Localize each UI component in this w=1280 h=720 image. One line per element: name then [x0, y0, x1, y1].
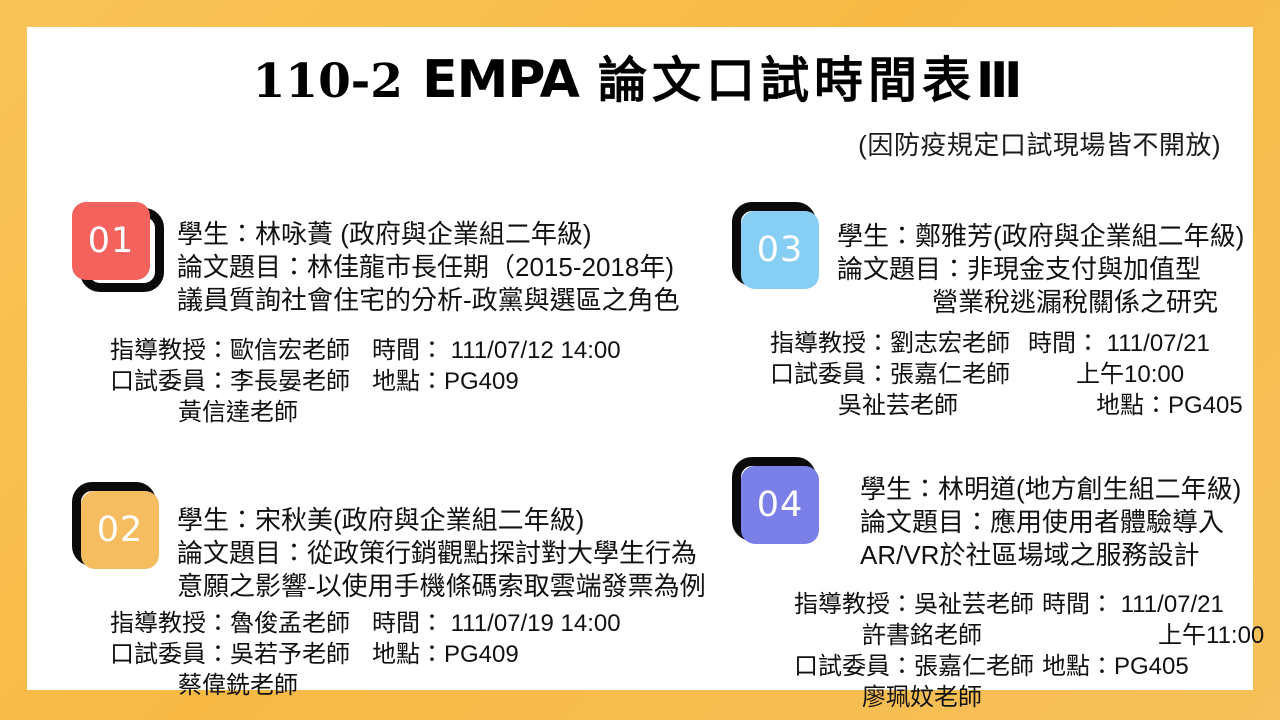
- title-main: 論文口試時間表Ⅲ: [598, 52, 1027, 109]
- committee-line-1: 口試委員：張嘉仁老師: [770, 359, 1028, 390]
- entry-detail-02: 指導教授：魯俊孟老師 時間： 111/07/19 14:00 口試委員：吳若予老…: [110, 608, 621, 701]
- thesis-line-2: 意願之影響-以使用手機條碼索取雲端發票為例: [177, 570, 706, 603]
- entry-detail-03: 指導教授：劉志宏老師 時間： 111/07/21 口試委員：張嘉仁老師 上午10…: [770, 328, 1243, 421]
- student-line: 學生：宋秋美(政府與企業組二年級): [177, 504, 706, 537]
- thesis-line-2: AR/VR於社區場域之服務設計: [860, 539, 1241, 572]
- thesis-line-2: 營業稅逃漏稅關係之研究: [837, 286, 1244, 319]
- subtitle-notice: (因防疫規定口試現場皆不開放): [858, 125, 1221, 162]
- advisor-line-2: 許書銘老師: [794, 620, 1110, 651]
- detail-row: 口試委員：張嘉仁老師 地點：PG405: [794, 651, 1264, 682]
- committee-line-1: 口試委員：李長晏老師: [110, 366, 372, 397]
- page-title: 110-2 EMPA 論文口試時間表Ⅲ: [27, 41, 1253, 112]
- place-line: 地點：PG409: [372, 639, 519, 670]
- schedule-entry-02: 02 學生：宋秋美(政府與企業組二年級) 論文題目：從政策行銷觀點探討對大學生行…: [72, 482, 742, 707]
- detail-row: 指導教授：歐信宏老師 時間： 111/07/12 14:00: [110, 335, 621, 366]
- time-line-1: 時間： 111/07/21: [1028, 328, 1210, 359]
- advisor-line: 指導教授：劉志宏老師: [770, 328, 1028, 359]
- entry-detail-04: 指導教授：吳祉芸老師 時間： 111/07/21 許書銘老師 上午11:00 口…: [794, 589, 1264, 713]
- entry-heading-02: 學生：宋秋美(政府與企業組二年級) 論文題目：從政策行銷觀點探討對大學生行為 意…: [177, 504, 706, 603]
- entry-heading-01: 學生：林咏蕢 (政府與企業組二年級) 論文題目：林佳龍市長任期（2015-201…: [177, 218, 680, 317]
- detail-row: 口試委員：張嘉仁老師 上午10:00: [770, 359, 1243, 390]
- detail-row: 廖珮妏老師: [794, 682, 1264, 713]
- detail-row: 許書銘老師 上午11:00: [794, 620, 1264, 651]
- thesis-line-1: 論文題目：林佳龍市長任期（2015-2018年): [177, 251, 680, 284]
- entry-badge-03: 03: [732, 202, 824, 294]
- poster-card: 110-2 EMPA 論文口試時間表Ⅲ (因防疫規定口試現場皆不開放) 01 學…: [27, 27, 1253, 690]
- badge-number-04: 04: [741, 466, 819, 544]
- entry-heading-03: 學生：鄭雅芳(政府與企業組二年級) 論文題目：非現金支付與加值型 營業稅逃漏稅關…: [837, 220, 1244, 319]
- place-line: 地點：PG405: [1042, 651, 1189, 682]
- committee-line-2: 黃信達老師: [110, 397, 440, 428]
- thesis-line-1: 論文題目：應用使用者體驗導入: [860, 506, 1241, 539]
- advisor-line: 指導教授：歐信宏老師: [110, 335, 372, 366]
- time-line-2: 上午11:00: [1110, 620, 1264, 651]
- place-line: 地點：PG405: [1096, 390, 1243, 421]
- thesis-line-2: 議員質詢社會住宅的分析-政黨與選區之角色: [177, 284, 680, 317]
- time-line-1: 時間： 111/07/21: [1042, 589, 1224, 620]
- entry-badge-04: 04: [732, 457, 824, 549]
- thesis-line-1: 論文題目：非現金支付與加值型: [837, 253, 1244, 286]
- entry-detail-01: 指導教授：歐信宏老師 時間： 111/07/12 14:00 口試委員：李長晏老…: [110, 335, 621, 428]
- student-line: 學生：林咏蕢 (政府與企業組二年級): [177, 218, 680, 251]
- detail-row: 黃信達老師: [110, 397, 621, 428]
- thesis-line-1: 論文題目：從政策行銷觀點探討對大學生行為: [177, 537, 706, 570]
- committee-line-2: 廖珮妏老師: [794, 682, 1110, 713]
- schedule-entry-01: 01 學生：林咏蕢 (政府與企業組二年級) 論文題目：林佳龍市長任期（2015-…: [72, 202, 732, 427]
- time-line-2: 上午10:00: [1028, 359, 1184, 390]
- entry-badge-02: 02: [72, 482, 164, 574]
- place-line: 地點：PG409: [372, 366, 519, 397]
- committee-line-2: 蔡偉銑老師: [110, 670, 440, 701]
- committee-line-2: 吳祉芸老師: [770, 390, 1096, 421]
- time-line-1: 時間： 111/07/12 14:00: [372, 335, 621, 366]
- entry-badge-01: 01: [72, 202, 164, 294]
- student-line: 學生：林明道(地方創生組二年級): [860, 473, 1241, 506]
- advisor-line: 指導教授：魯俊孟老師: [110, 608, 372, 639]
- time-line-1: 時間： 111/07/19 14:00: [372, 608, 621, 639]
- detail-row: 口試委員：李長晏老師 地點：PG409: [110, 366, 621, 397]
- schedule-entry-03: 03 學生：鄭雅芳(政府與企業組二年級) 論文題目：非現金支付與加值型 營業稅逃…: [732, 202, 1280, 427]
- detail-row: 指導教授：劉志宏老師 時間： 111/07/21: [770, 328, 1243, 359]
- badge-number-01: 01: [72, 202, 150, 280]
- detail-row: 指導教授：魯俊孟老師 時間： 111/07/19 14:00: [110, 608, 621, 639]
- badge-number-02: 02: [81, 491, 159, 569]
- badge-number-03: 03: [741, 211, 819, 289]
- student-line: 學生：鄭雅芳(政府與企業組二年級): [837, 220, 1244, 253]
- detail-row: 蔡偉銑老師: [110, 670, 621, 701]
- detail-row: 吳祉芸老師 地點：PG405: [770, 390, 1243, 421]
- schedule-entry-04: 04 學生：林明道(地方創生組二年級) 論文題目：應用使用者體驗導入 AR/VR…: [732, 457, 1280, 707]
- committee-line-1: 口試委員：張嘉仁老師: [794, 651, 1042, 682]
- detail-row: 指導教授：吳祉芸老師 時間： 111/07/21: [794, 589, 1264, 620]
- entry-heading-04: 學生：林明道(地方創生組二年級) 論文題目：應用使用者體驗導入 AR/VR於社區…: [860, 473, 1241, 572]
- committee-line-1: 口試委員：吳若予老師: [110, 639, 372, 670]
- title-program: EMPA: [422, 50, 579, 110]
- detail-row: 口試委員：吳若予老師 地點：PG409: [110, 639, 621, 670]
- poster-frame: 110-2 EMPA 論文口試時間表Ⅲ (因防疫規定口試現場皆不開放) 01 學…: [0, 0, 1280, 720]
- title-number: 110-2: [253, 54, 403, 109]
- advisor-line: 指導教授：吳祉芸老師: [794, 589, 1042, 620]
